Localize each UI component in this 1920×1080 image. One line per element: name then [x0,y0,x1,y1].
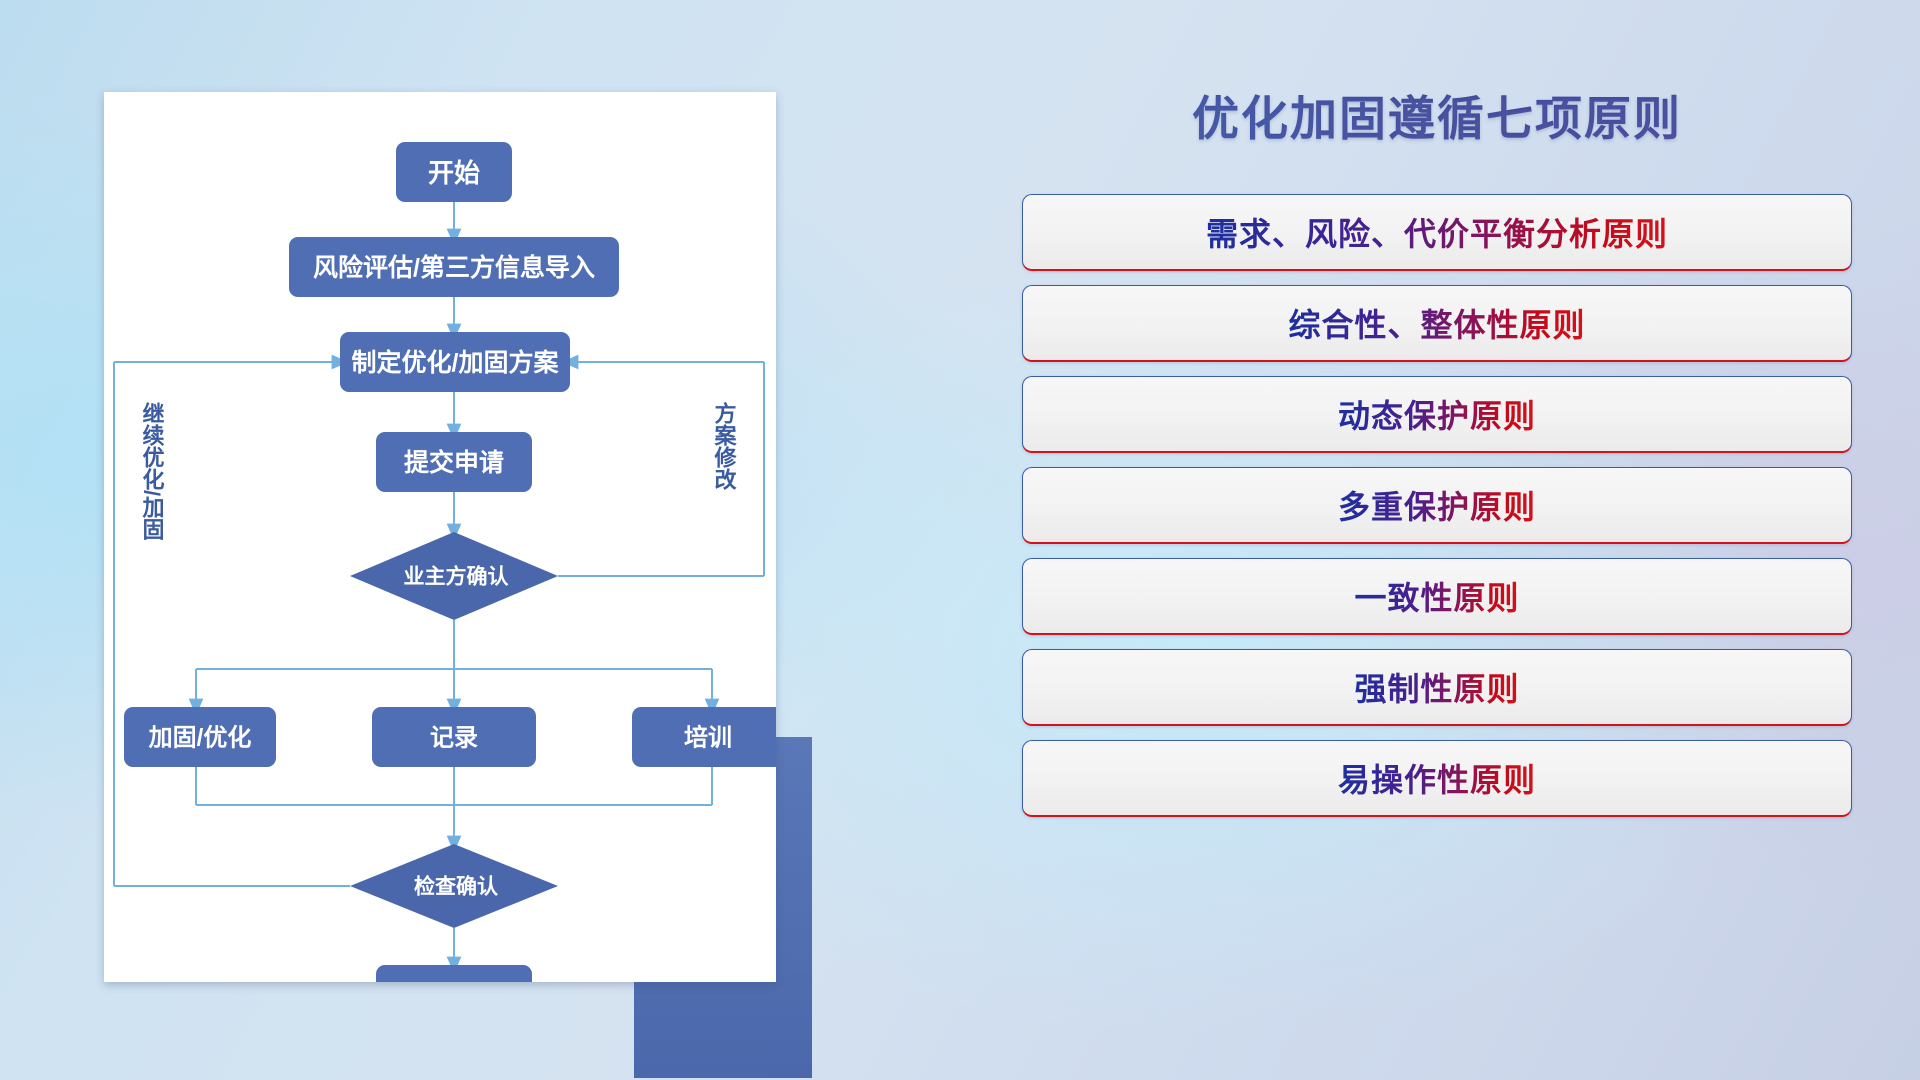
principle-item-6[interactable]: 强制性原则 [1022,649,1852,726]
flow-node-record[interactable]: 记录 [372,707,536,767]
principle-item-7-label: 易操作性原则 [1338,755,1536,801]
flow-node-inspection-confirm[interactable]: 检查确认 [350,844,558,928]
principle-item-7[interactable]: 易操作性原则 [1022,740,1852,817]
principle-item-4-label: 多重保护原则 [1338,482,1536,528]
principle-item-2[interactable]: 综合性、整体性原则 [1022,285,1852,362]
flow-edge-label-continue-optimize: 继续优化/加固 [140,401,166,541]
flowchart-region: 开始 风险评估/第三方信息导入 制定优化/加固方案 提交申请 业主方确认 [104,92,804,972]
flow-node-risk-assessment-label: 风险评估/第三方信息导入 [313,253,595,282]
flow-node-submit-application-label: 提交申请 [404,448,504,477]
flow-node-generate-report[interactable]: 生成报告 [376,965,532,982]
principle-item-1-label: 需求、风险、代价平衡分析原则 [1206,209,1668,255]
principle-item-6-label: 强制性原则 [1354,664,1519,710]
principle-item-1[interactable]: 需求、风险、代价平衡分析原则 [1022,194,1852,271]
principle-item-3-label: 动态保护原则 [1338,391,1536,437]
flow-node-make-plan[interactable]: 制定优化/加固方案 [340,332,570,392]
principles-panel: 优化加固遵循七项原则 需求、风险、代价平衡分析原则 综合性、整体性原则 动态保护… [1022,92,1852,1012]
flow-node-make-plan-label: 制定优化/加固方案 [352,348,560,377]
flow-node-start[interactable]: 开始 [396,142,512,202]
principle-item-4[interactable]: 多重保护原则 [1022,467,1852,544]
principle-item-5-label: 一致性原则 [1354,573,1519,619]
flow-node-reinforce-optimize-label: 加固/优化 [149,724,252,752]
flow-edge-label-plan-revision: 方案修改 [712,401,738,491]
principle-item-5[interactable]: 一致性原则 [1022,558,1852,635]
flow-node-risk-assessment[interactable]: 风险评估/第三方信息导入 [289,237,619,297]
flow-node-reinforce-optimize[interactable]: 加固/优化 [124,707,276,767]
page-title: 优化加固遵循七项原则 [1022,92,1852,146]
flow-node-owner-confirm[interactable]: 业主方确认 [350,532,558,620]
flow-node-training-label: 培训 [684,724,732,752]
flow-node-submit-application[interactable]: 提交申请 [376,432,532,492]
flowchart-card: 开始 风险评估/第三方信息导入 制定优化/加固方案 提交申请 业主方确认 [104,92,776,982]
flowchart-svg: 开始 风险评估/第三方信息导入 制定优化/加固方案 提交申请 业主方确认 [104,92,776,982]
flow-node-training[interactable]: 培训 [632,707,776,767]
flow-node-inspection-confirm-label: 检查确认 [414,875,498,899]
flow-node-record-label: 记录 [430,725,478,752]
principle-item-2-label: 综合性、整体性原则 [1288,300,1585,346]
flow-node-owner-confirm-label: 业主方确认 [404,565,509,589]
flow-node-start-label: 开始 [428,158,480,188]
principle-item-3[interactable]: 动态保护原则 [1022,376,1852,453]
